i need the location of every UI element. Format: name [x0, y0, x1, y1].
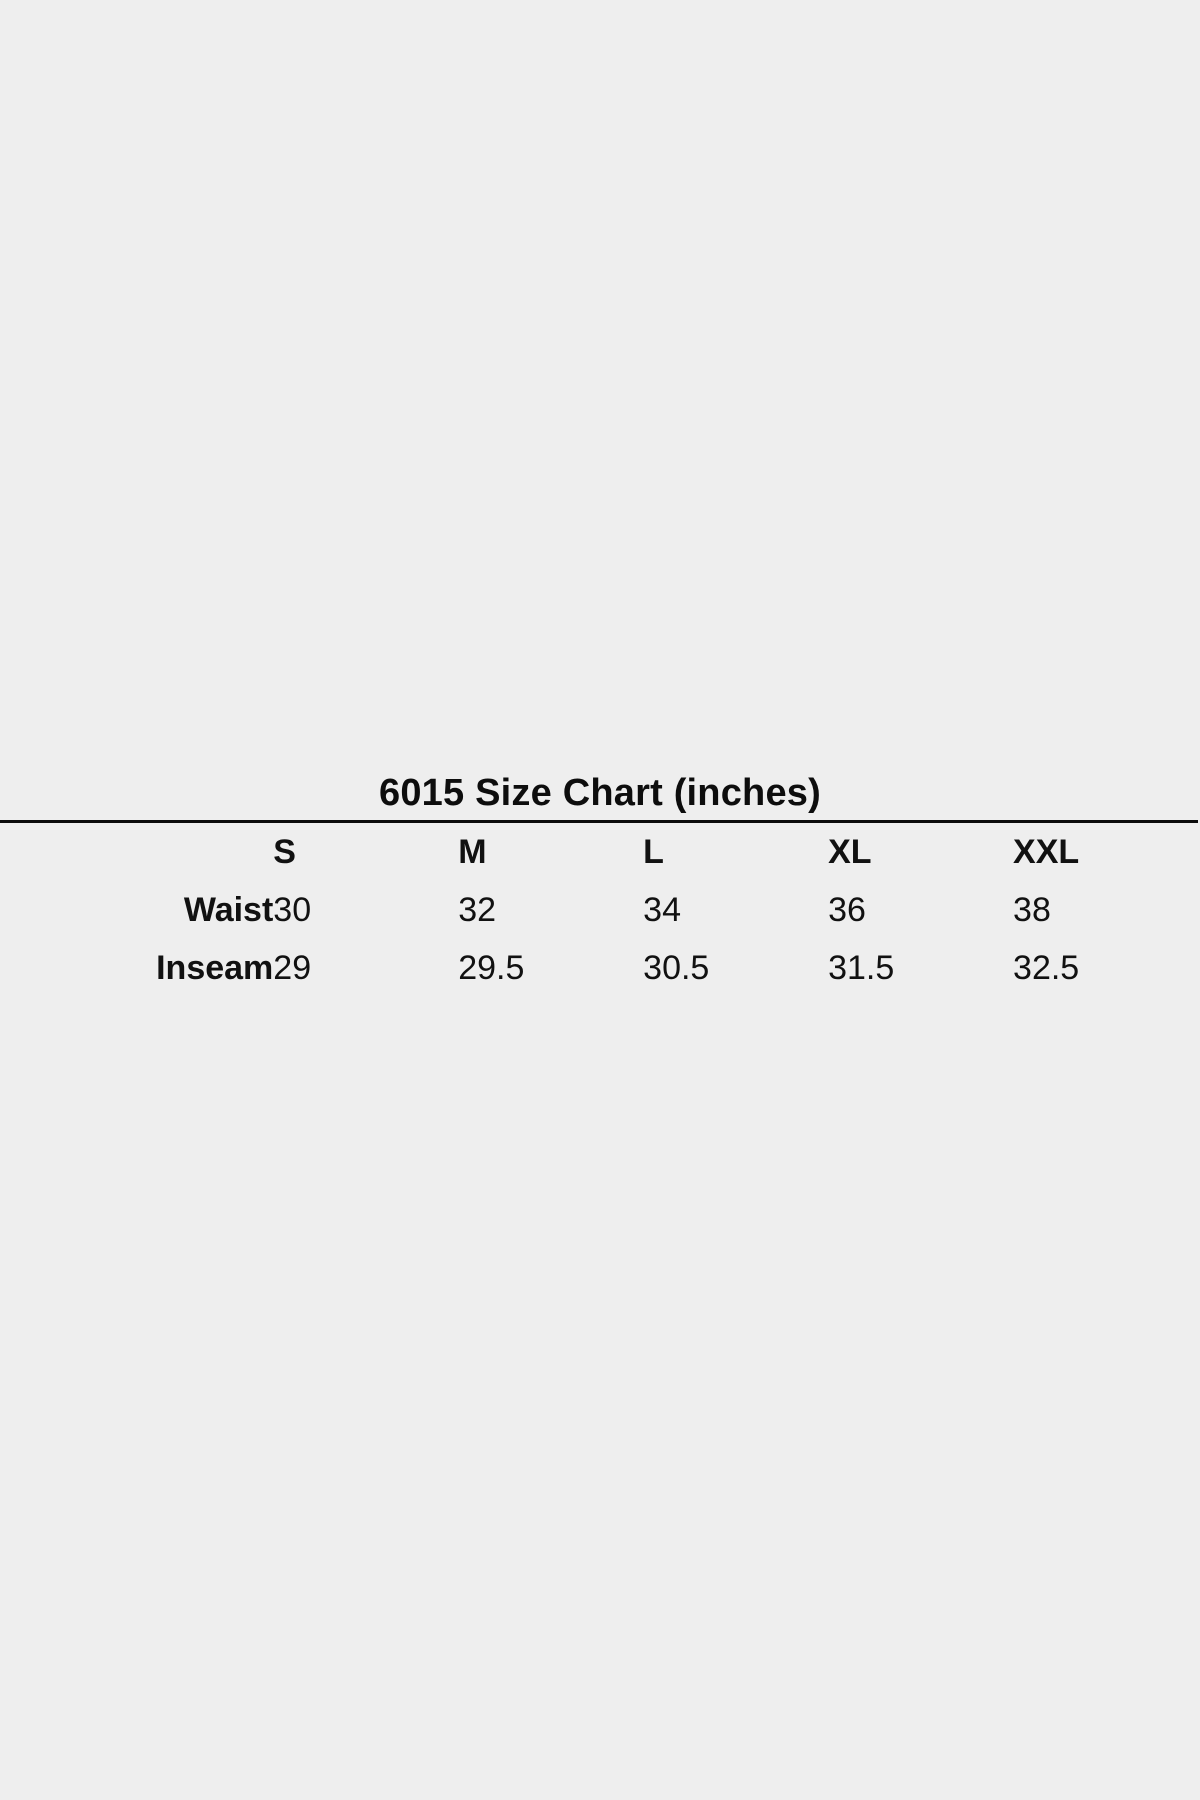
cell-inseam-xl: 31.5	[828, 939, 1013, 997]
column-header-l: L	[643, 823, 828, 881]
table-header-row: S M L XL XXL	[0, 823, 1198, 881]
column-header-xxl: XXL	[1013, 823, 1198, 881]
size-chart-block: 6015 Size Chart (inches) S M L XL XXL Wa…	[0, 770, 1200, 997]
column-header-s: S	[273, 823, 458, 881]
cell-waist-m: 32	[458, 881, 643, 939]
table-corner-cell	[0, 823, 273, 881]
table-row: Waist 30 32 34 36 38	[0, 881, 1198, 939]
row-label-inseam: Inseam	[0, 939, 273, 997]
cell-inseam-m: 29.5	[458, 939, 643, 997]
chart-title: 6015 Size Chart (inches)	[0, 770, 1200, 820]
table-row: Inseam 29 29.5 30.5 31.5 32.5	[0, 939, 1198, 997]
column-header-m: M	[458, 823, 643, 881]
cell-waist-xxl: 38	[1013, 881, 1198, 939]
size-chart-table: S M L XL XXL Waist 30 32 34 36 38 Inseam…	[0, 823, 1198, 997]
cell-waist-xl: 36	[828, 881, 1013, 939]
column-header-xl: XL	[828, 823, 1013, 881]
row-label-waist: Waist	[0, 881, 273, 939]
cell-inseam-l: 30.5	[643, 939, 828, 997]
cell-inseam-s: 29	[273, 939, 458, 997]
cell-waist-l: 34	[643, 881, 828, 939]
cell-waist-s: 30	[273, 881, 458, 939]
cell-inseam-xxl: 32.5	[1013, 939, 1198, 997]
